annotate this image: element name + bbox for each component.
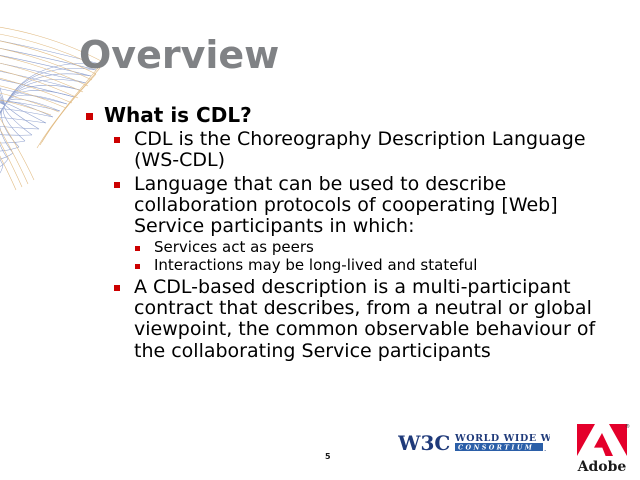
bullet-marker-icon	[135, 264, 140, 269]
bullet-text: What is CDL?	[104, 104, 630, 127]
bullet-level-3: Services act as peers	[82, 239, 630, 257]
bullet-text: Interactions may be long-lived and state…	[154, 257, 630, 275]
w3c-logo-icon: W3C WORLD WIDE WEB CONSORTIUM .	[398, 430, 550, 456]
bullet-level-2: A CDL-based description is a multi-parti…	[82, 277, 630, 362]
presentation-slide: Overview What is CDL? CDL is the Choreog…	[0, 0, 640, 480]
adobe-wordmark: Adobe	[577, 459, 627, 475]
bullet-level-2: Language that can be used to describe co…	[82, 174, 630, 238]
slide-title: Overview	[79, 36, 279, 76]
bullet-marker-icon	[114, 137, 120, 143]
slide-number: 5	[325, 452, 331, 461]
bullet-level-1: What is CDL?	[82, 104, 630, 127]
bullet-marker-icon	[86, 113, 93, 120]
bullet-text: CDL is the Choreography Description Lang…	[134, 129, 630, 172]
w3c-tagline-line1: WORLD WIDE WEB	[454, 433, 550, 444]
bullet-level-2: CDL is the Choreography Description Lang…	[82, 129, 630, 172]
adobe-registered-mark: ®	[625, 423, 630, 430]
adobe-a-mark	[577, 424, 627, 456]
bullet-marker-icon	[114, 182, 120, 188]
bullet-text: A CDL-based description is a multi-parti…	[134, 277, 630, 362]
bullet-level-3: Interactions may be long-lived and state…	[82, 257, 630, 275]
w3c-wordmark: W3C	[398, 431, 450, 455]
adobe-logo-icon: ® Adobe	[573, 422, 631, 476]
bullet-marker-icon	[114, 285, 120, 291]
w3c-registered-mark: .	[544, 445, 546, 453]
w3c-tagline-line2: CONSORTIUM	[458, 444, 534, 452]
bullet-marker-icon	[135, 246, 140, 251]
bullet-text: Language that can be used to describe co…	[134, 174, 630, 238]
bullet-list: What is CDL? CDL is the Choreography Des…	[82, 104, 630, 362]
bullet-text: Services act as peers	[154, 239, 630, 257]
